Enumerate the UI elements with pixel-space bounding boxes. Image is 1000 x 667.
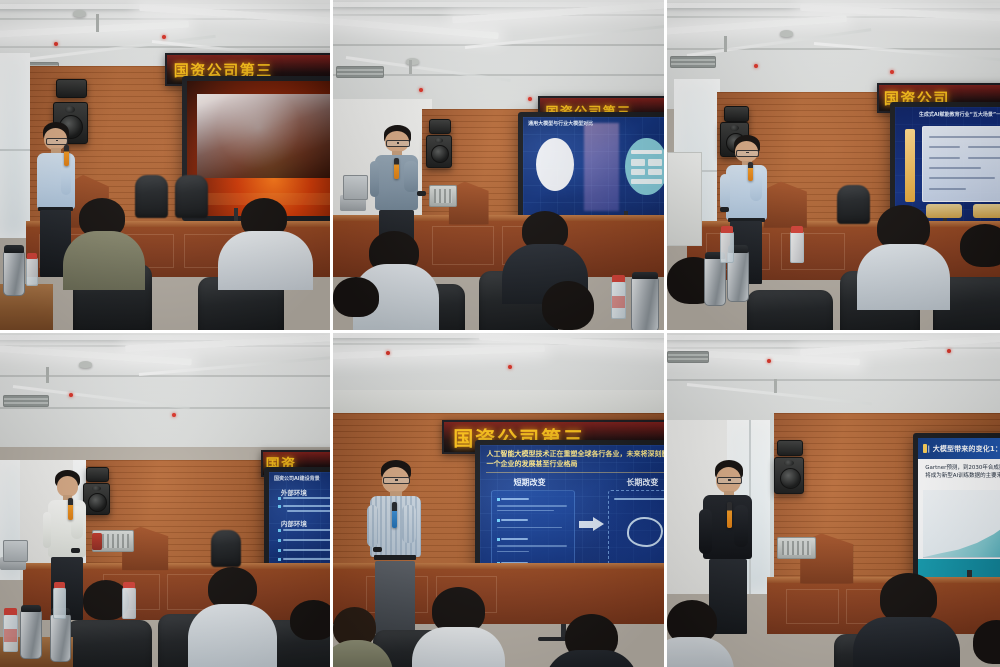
speaker-box-top xyxy=(429,119,451,134)
slide-title: 生成式AI赋能教育行业“五大场景”一体化 xyxy=(901,111,1000,118)
water-bottle xyxy=(3,614,18,653)
scene-bottom-right: | 大模型带来的变化1：数据 Gartner预测，到2030年合成数据 将成为新… xyxy=(667,333,1000,667)
presenter xyxy=(359,460,432,634)
slide-title: 国资公司AI建设背景 xyxy=(274,475,330,482)
right-circle xyxy=(625,138,664,195)
chart-area xyxy=(923,490,1000,558)
audience-shoulders xyxy=(853,617,960,667)
slide-header-bar: | 大模型带来的变化1：数据 xyxy=(918,438,1000,459)
audience-shoulders xyxy=(412,627,505,667)
thermos xyxy=(704,257,726,305)
collage-panel-bottom-right[interactable]: | 大模型带来的变化1：数据 Gartner预测，到2030年合成数据 将成为新… xyxy=(667,333,1000,667)
scene-bottom-center: 国资公司第三 人工智能大模型技术正在重塑全球各行各业，未来将深刻影响 一个企业的… xyxy=(333,333,664,667)
thermos xyxy=(20,610,42,659)
audience-shoulders xyxy=(857,244,950,310)
thermos xyxy=(3,251,25,296)
slide-body-line-1: Gartner预测，到2030年合成数据 xyxy=(925,465,1000,473)
slide-title-block: 人工智能大模型技术正在重塑全球各行各业，未来将深刻影响 一个企业的发展甚至行业格… xyxy=(486,449,664,472)
audience-head xyxy=(960,224,1000,267)
slide-fire-photo xyxy=(187,81,331,216)
audience-chair xyxy=(747,290,834,330)
presentation-screen[interactable]: | 大模型带来的变化1：数据 Gartner预测，到2030年合成数据 将成为新… xyxy=(913,433,1000,583)
column-right-title: 长期改变 xyxy=(608,477,664,488)
slide-body-line-2: 将成为新型AI训练数据的主要来源 xyxy=(925,473,1000,481)
water-bottle xyxy=(26,257,38,285)
stage-chair xyxy=(175,175,208,218)
control-console xyxy=(429,185,457,207)
audience-chair xyxy=(66,620,152,667)
section-heading-internal: 内部环境 xyxy=(281,518,330,528)
audience-shoulders xyxy=(545,650,638,667)
slide-bullets: 国资公司AI建设背景 外部环境 内部环境 xyxy=(269,472,330,579)
white-cabinet xyxy=(667,152,702,246)
stage-chair xyxy=(211,530,241,567)
slide-title-line-2: 一个企业的发展甚至行业格局 xyxy=(486,459,664,469)
chart-footer xyxy=(918,559,1000,579)
collage-panel-top-center[interactable]: 国资公司第三 通用大模型与行业大模型对比 xyxy=(333,0,667,333)
speaker-box-top xyxy=(724,106,749,122)
water-bottle xyxy=(720,231,734,263)
collage-panel-top-right[interactable]: 国资公司 生成式AI赋能教育行业“五大场景”一体化 xyxy=(667,0,1000,333)
slide-comparison: 通用大模型与行业大模型对比 xyxy=(523,117,664,219)
speaker-box-main xyxy=(774,457,804,494)
water-bottle xyxy=(611,281,626,319)
audience-head xyxy=(333,277,379,317)
thermos xyxy=(631,277,659,330)
arrow-right-icon xyxy=(593,517,604,531)
speaker-box-top xyxy=(56,79,87,98)
slide-title: 通用大模型与行业大模型对比 xyxy=(528,120,662,127)
slide-body: Gartner预测，到2030年合成数据 将成为新型AI训练数据的主要来源 xyxy=(925,465,1000,481)
doc-sheet xyxy=(922,126,1000,202)
collage-panel-bottom-center[interactable]: 国资公司第三 人工智能大模型技术正在重塑全球各行各业，未来将深刻影响 一个企业的… xyxy=(333,333,667,667)
tab-right xyxy=(973,204,1000,218)
audience-shoulders xyxy=(188,604,277,667)
photo-collage-grid: 国资公司第三 xyxy=(0,0,1000,667)
control-console xyxy=(777,537,816,559)
audience-head xyxy=(542,281,595,331)
tab-left xyxy=(926,204,962,218)
scene-bottom-left: 国资 国资公司AI建设背景 外部环境 内部环境 xyxy=(0,333,330,667)
stage-chair xyxy=(135,175,168,218)
thermos xyxy=(50,614,72,663)
scene-top-right: 国资公司 生成式AI赋能教育行业“五大场景”一体化 xyxy=(667,0,1000,330)
collage-panel-top-left[interactable]: 国资公司第三 xyxy=(0,0,333,333)
water-bottle xyxy=(53,587,67,619)
speaker-box-top xyxy=(777,440,803,456)
audience-shoulders xyxy=(667,637,734,667)
left-circle xyxy=(536,138,574,191)
section-heading-external: 外部环境 xyxy=(281,487,330,497)
stage-chair xyxy=(837,185,870,225)
collage-panel-bottom-left[interactable]: 国资 国资公司AI建设背景 外部环境 内部环境 xyxy=(0,333,333,667)
brain-icon xyxy=(627,517,663,547)
slide-chart: | 大模型带来的变化1：数据 Gartner预测，到2030年合成数据 将成为新… xyxy=(918,438,1000,578)
slide-title: | 大模型带来的变化1：数据 xyxy=(927,444,1000,454)
column-left-title: 短期改变 xyxy=(493,477,567,488)
water-bottle xyxy=(790,231,804,263)
slide-title-line-1: 人工智能大模型技术正在重塑全球各行各业，未来将深刻影响 xyxy=(486,449,664,459)
scene-top-center: 国资公司第三 通用大模型与行业大模型对比 xyxy=(333,0,664,330)
side-tab xyxy=(905,129,915,203)
water-bottle xyxy=(122,587,136,619)
presentation-screen[interactable]: 通用大模型与行业大模型对比 xyxy=(518,112,664,224)
scene-top-left: 国资公司第三 xyxy=(0,0,330,330)
audience-head xyxy=(290,600,330,640)
ceiling xyxy=(0,333,330,447)
audience-shoulders xyxy=(218,231,314,290)
